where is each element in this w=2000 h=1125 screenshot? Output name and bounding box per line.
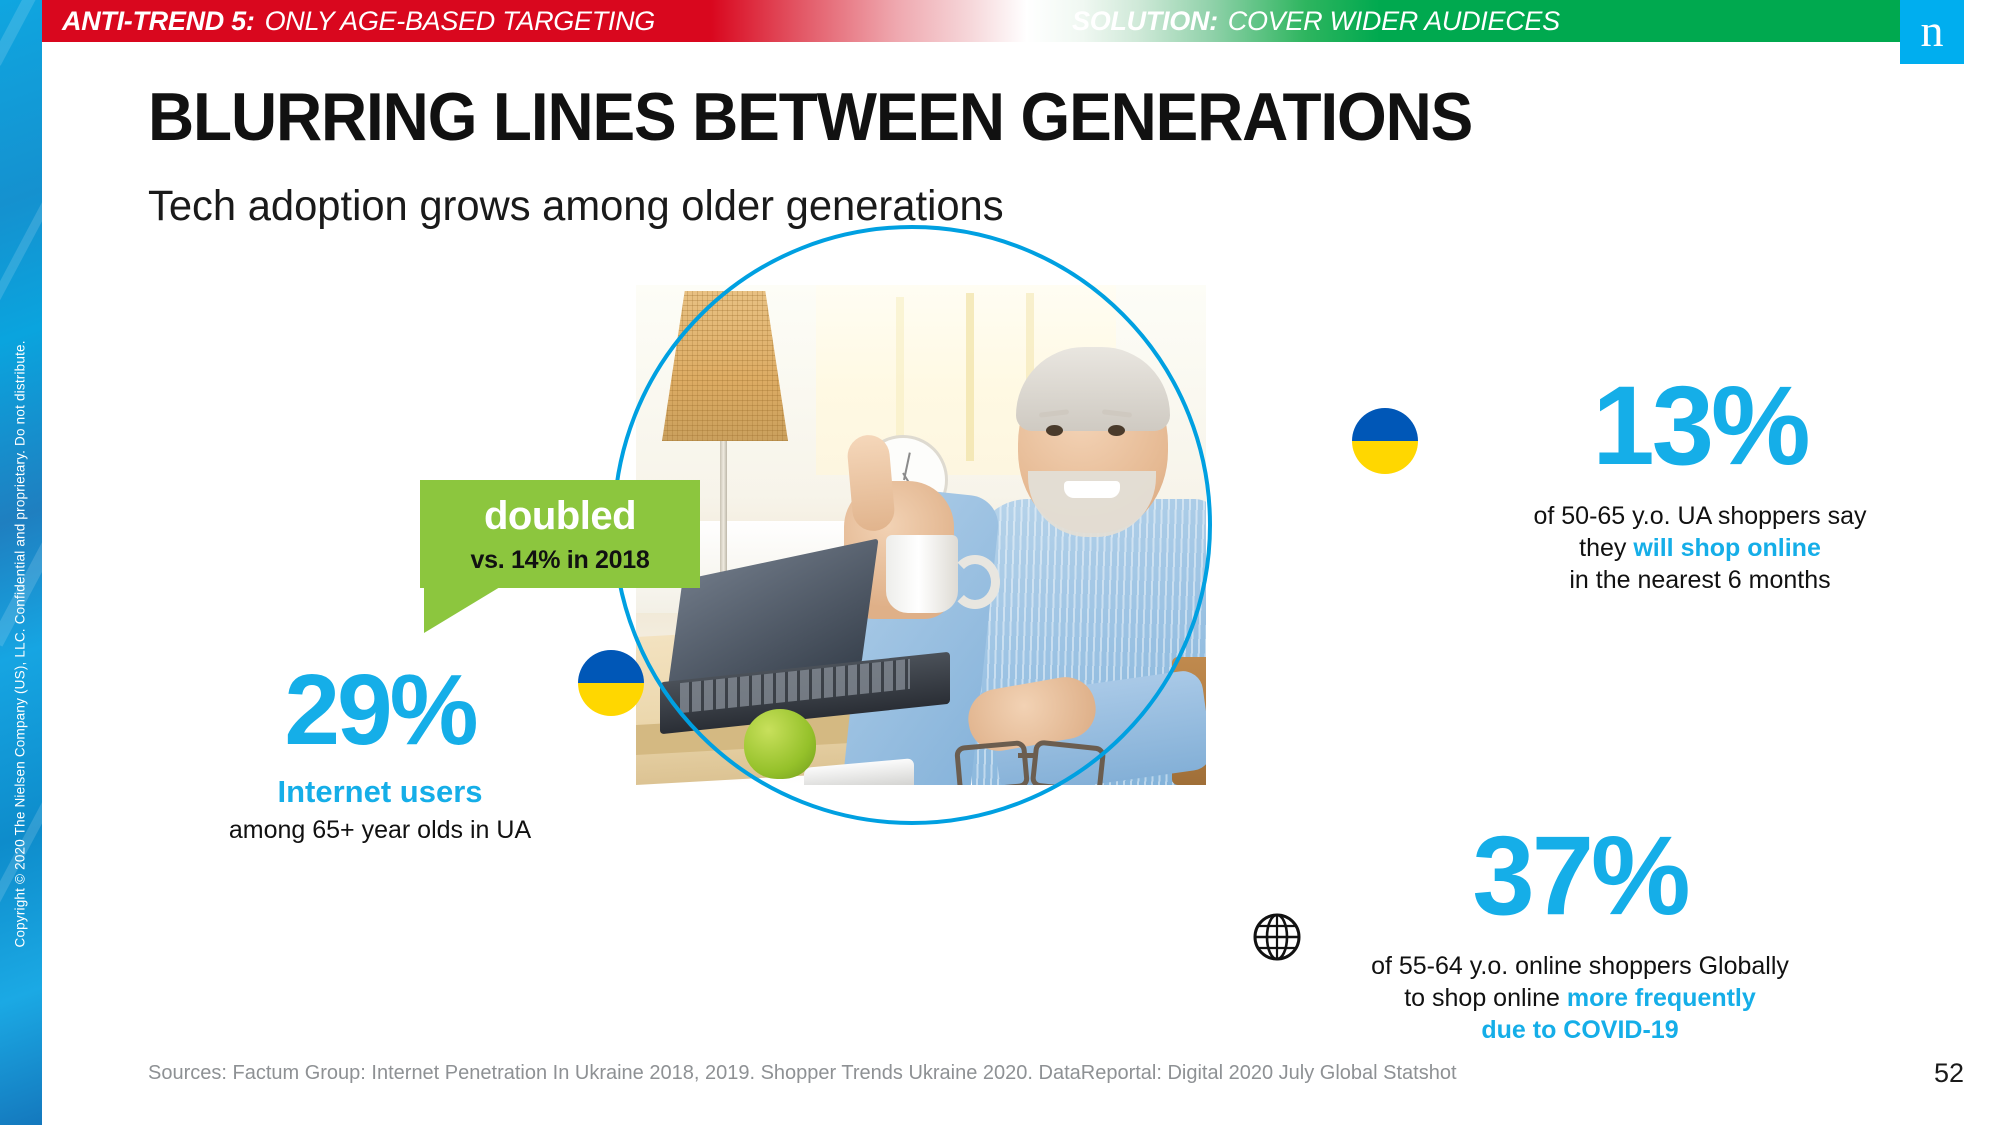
- stat-more-frequently: 37% of 55-64 y.o. online shoppers Global…: [1300, 820, 1860, 1046]
- photo-circle-ring: [612, 225, 1212, 825]
- nielsen-logo-letter: n: [1900, 8, 1964, 54]
- anti-trend-text: ONLY AGE-BASED TARGETING: [265, 6, 655, 37]
- anti-trend-banner: ANTI-TREND 5: ONLY AGE-BASED TARGETING S…: [42, 0, 1900, 42]
- solution-label: SOLUTION:: [1072, 6, 1218, 37]
- page-subtitle: Tech adoption grows among older generati…: [148, 182, 1004, 231]
- stat-description: of 50-65 y.o. UA shoppers say they will …: [1480, 500, 1920, 596]
- stat-label: Internet users: [160, 774, 600, 810]
- stat-value: 37%: [1300, 820, 1860, 932]
- callout-subline: vs. 14% in 2018: [420, 546, 700, 575]
- copyright-notice: Copyright © 2020 The Nielsen Company (US…: [13, 188, 28, 948]
- callout-headline: doubled: [420, 494, 700, 539]
- stat-value: 13%: [1480, 370, 1920, 482]
- stat-line-2-highlight: will shop online: [1633, 534, 1821, 562]
- strip-streak: [0, 0, 42, 66]
- stat-line-3-highlight: due to COVID-19: [1300, 1014, 1860, 1046]
- stat-will-shop-online: 13% of 50-65 y.o. UA shoppers say they w…: [1480, 370, 1920, 596]
- stat-line-2-highlight: more frequently: [1567, 984, 1756, 1012]
- stat-line-2-prefix: to shop online: [1404, 984, 1567, 1012]
- ukraine-flag-yellow: [1352, 441, 1418, 474]
- stat-line-3: in the nearest 6 months: [1480, 564, 1920, 596]
- page-title: BLURRING LINES BETWEEN GENERATIONS: [148, 78, 1472, 156]
- stat-line-1: of 55-64 y.o. online shoppers Globally: [1300, 950, 1860, 982]
- doubled-callout: doubled vs. 14% in 2018: [420, 480, 700, 588]
- sources-note: Sources: Factum Group: Internet Penetrat…: [148, 1062, 1457, 1085]
- anti-trend-label: ANTI-TREND 5:: [62, 6, 255, 37]
- photo-circle: [612, 225, 1212, 825]
- stat-sublabel: among 65+ year olds in UA: [160, 816, 600, 845]
- stat-line-1: of 50-65 y.o. UA shoppers say: [1480, 500, 1920, 532]
- nielsen-logo: n: [1900, 0, 1964, 64]
- page-number: 52: [1934, 1058, 1964, 1089]
- stat-description: of 55-64 y.o. online shoppers Globally t…: [1300, 950, 1860, 1046]
- stat-internet-users: 29% Internet users among 65+ year olds i…: [160, 660, 600, 845]
- anti-trend-group: ANTI-TREND 5: ONLY AGE-BASED TARGETING: [62, 0, 655, 42]
- solution-text: COVER WIDER AUDIECES: [1228, 6, 1560, 37]
- stat-line-2: to shop online more frequently: [1300, 982, 1860, 1014]
- brand-side-strip: Copyright © 2020 The Nielsen Company (US…: [0, 0, 42, 1125]
- stat-line-2: they will shop online: [1480, 532, 1920, 564]
- stat-line-2-prefix: they: [1579, 534, 1633, 562]
- ukraine-flag-icon: [1352, 408, 1418, 474]
- globe-glyph: [1249, 909, 1305, 965]
- stat-value: 29%: [160, 660, 600, 760]
- solution-group: SOLUTION: COVER WIDER AUDIECES: [1072, 0, 1560, 42]
- callout-tail: [424, 587, 500, 633]
- ukraine-flag-blue: [1352, 408, 1418, 441]
